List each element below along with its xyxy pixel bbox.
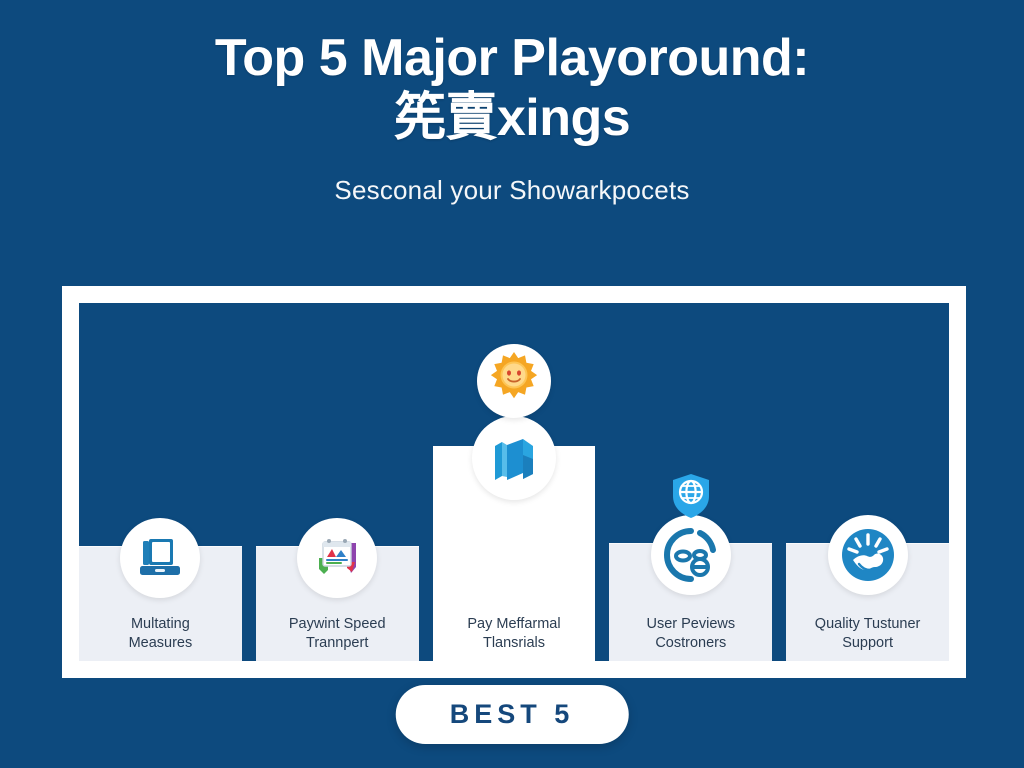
page-title-line-2: 筅賣xings bbox=[0, 88, 1024, 148]
bar-label-line-1: Quality Tustuner bbox=[790, 615, 945, 634]
page-subtitle: Sesconal your Showarkpocets bbox=[0, 175, 1024, 206]
bar-label: Quality TustunerSupport bbox=[786, 615, 949, 653]
bar-label-line-2: Tlansrials bbox=[437, 634, 592, 653]
bar-label-line-1: Paywint Speed bbox=[260, 615, 415, 634]
bar-label-line-1: Pay Meffarmal bbox=[437, 615, 592, 634]
bar-label: Paywint SpeedTrannpert bbox=[256, 615, 419, 653]
bar-label-line-1: Multating bbox=[83, 615, 238, 634]
bar-label: Pay MeffarmalTlansrials bbox=[433, 615, 596, 653]
bar-label-line-2: Support bbox=[790, 634, 945, 653]
chart-frame: MultatingMeasures Paywint SpeedTrannpert… bbox=[62, 286, 966, 678]
bar-label: MultatingMeasures bbox=[79, 615, 242, 653]
bar-label-line-1: User Peviews bbox=[613, 615, 768, 634]
bar-label-line-2: Measures bbox=[83, 634, 238, 653]
blue-books-icon bbox=[472, 416, 556, 500]
sun-face-icon bbox=[477, 344, 551, 418]
face-review-icon bbox=[651, 515, 731, 595]
page-header: Top 5 Major Playoround: 筅賣xings Sesconal… bbox=[0, 0, 1024, 206]
page-title-line-1: Top 5 Major Playoround: bbox=[0, 28, 1024, 88]
bar-label-line-2: Trannpert bbox=[260, 634, 415, 653]
bar-label: User PeviewsCostroners bbox=[609, 615, 772, 653]
chart-plot-area: MultatingMeasures Paywint SpeedTrannpert… bbox=[79, 303, 949, 661]
best-5-badge[interactable]: BEST 5 bbox=[396, 685, 629, 744]
bar-label-line-2: Costroners bbox=[613, 634, 768, 653]
handshake-support-icon bbox=[828, 515, 908, 595]
globe-shield-icon bbox=[668, 473, 714, 519]
